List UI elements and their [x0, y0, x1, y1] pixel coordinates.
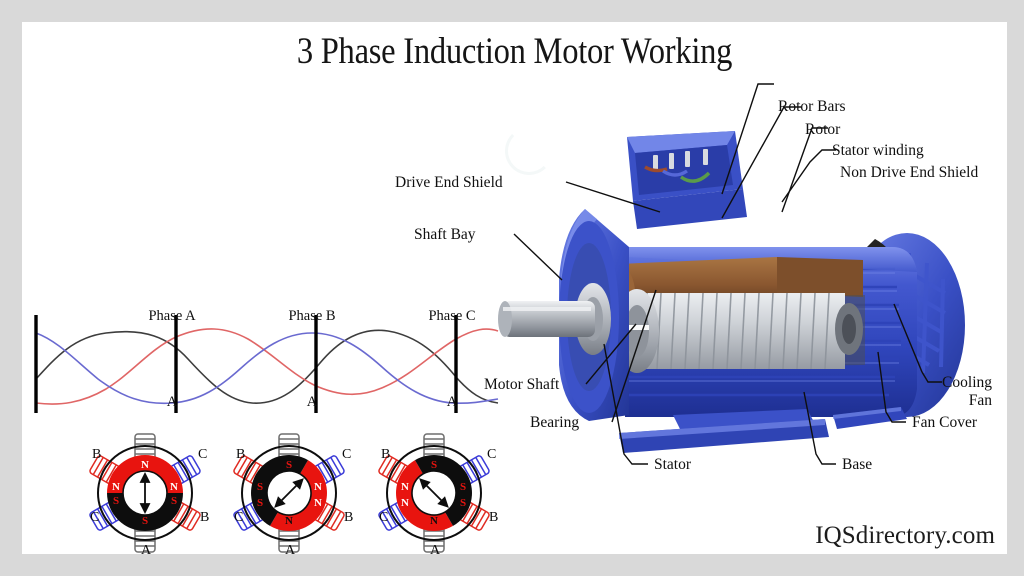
diagram-page: 3 Phase Induction Motor Working: [22, 22, 1007, 554]
svg-text:N: N: [112, 481, 120, 493]
callout-rotor-bars: Rotor Bars: [778, 98, 846, 116]
callout-fan-cover: Fan Cover: [912, 414, 977, 432]
site-watermark: IQSdirectory.com: [815, 522, 995, 550]
svg-text:N: N: [430, 515, 438, 527]
stator-3-label-c-bottomleft: C: [379, 510, 388, 526]
svg-text:N: N: [314, 497, 322, 509]
stator-1-label-a-bottom: A: [141, 543, 151, 559]
callout-shaft-bay: Shaft Bay: [414, 226, 476, 244]
stator-2-label-a-bottom: A: [285, 543, 295, 559]
svg-text:S: S: [142, 515, 148, 527]
stator-1-label-b-topleft: B: [92, 447, 101, 463]
wave-label-phase-b-bottom: A: [296, 394, 328, 411]
callout-non-drive-end-shield: Non Drive End Shield: [840, 164, 978, 182]
wave-label-phase-c-top: Phase C: [412, 308, 492, 325]
svg-text:S: S: [460, 481, 466, 493]
svg-text:S: S: [460, 497, 466, 509]
svg-text:N: N: [285, 515, 293, 527]
wave-label-phase-a-top: Phase A: [132, 308, 212, 325]
svg-text:S: S: [286, 459, 292, 471]
svg-text:N: N: [401, 497, 409, 509]
stator-1-label-c-bottomleft: C: [90, 510, 99, 526]
stator-1-label-c-topright: C: [198, 447, 207, 463]
wave-phase-b: [36, 329, 498, 404]
stator-3-label-a-bottom: A: [430, 543, 440, 559]
wave-label-phase-a-bottom: A: [156, 394, 188, 411]
callout-rotor: Rotor: [805, 121, 840, 139]
stator-2-label-b-bottomright: B: [344, 510, 353, 526]
svg-text:N: N: [314, 481, 322, 493]
stator-3-label-b-bottomright: B: [489, 510, 498, 526]
svg-text:S: S: [257, 481, 263, 493]
svg-text:S: S: [257, 497, 263, 509]
svg-text:S: S: [431, 459, 437, 471]
callout-bearing: Bearing: [530, 414, 579, 432]
stator-3-label-c-topright: C: [487, 447, 496, 463]
callout-stator: Stator: [654, 456, 691, 474]
stator-3-label-b-topleft: B: [381, 447, 390, 463]
callout-drive-end-shield: Drive End Shield: [395, 174, 503, 192]
svg-text:N: N: [170, 481, 178, 493]
wave-label-phase-c-bottom: A: [436, 394, 468, 411]
wave-phase-c: [36, 333, 498, 403]
callout-stator-winding: Stator winding: [832, 142, 924, 160]
wave-phase-a: [36, 330, 498, 403]
screenshot-canvas: 3 Phase Induction Motor Working: [0, 0, 1024, 576]
wave-label-phase-b-top: Phase B: [272, 308, 352, 325]
stator-2-label-c-topright: C: [342, 447, 351, 463]
svg-text:S: S: [113, 495, 119, 507]
stator-1-label-b-bottomright: B: [200, 510, 209, 526]
svg-text:S: S: [171, 495, 177, 507]
svg-text:N: N: [141, 459, 149, 471]
callout-cooling-fan: Cooling Fan: [922, 374, 992, 411]
stator-2-label-b-topleft: B: [236, 447, 245, 463]
stator-2-label-c-bottomleft: C: [234, 510, 243, 526]
callout-base: Base: [842, 456, 872, 474]
svg-text:N: N: [401, 481, 409, 493]
